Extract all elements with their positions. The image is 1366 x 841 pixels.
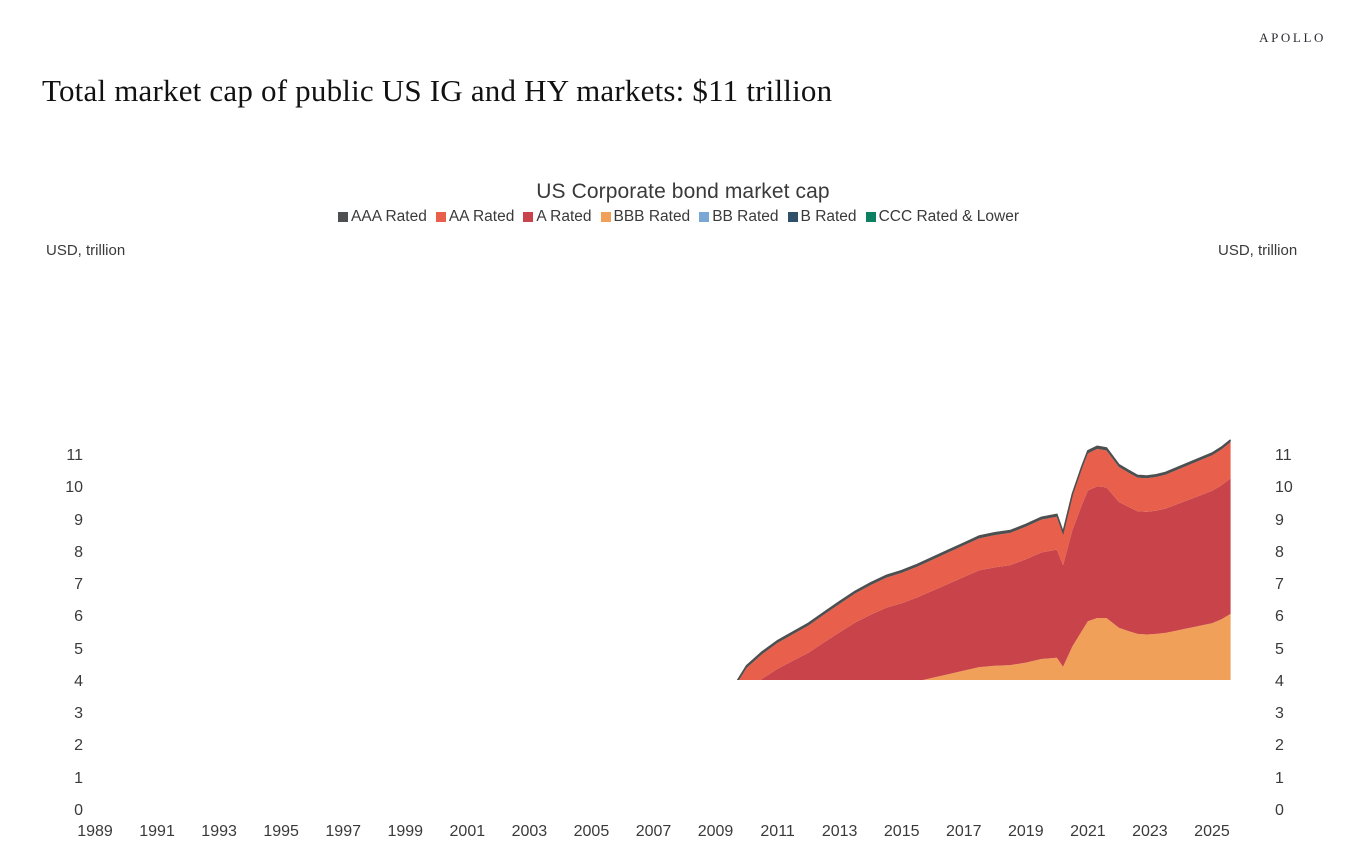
x-axis-tick-label: 2009 — [689, 823, 743, 841]
x-axis-tick-label: 1993 — [192, 823, 246, 841]
plot-area: USD, trillion USD, trillion 001122334455… — [0, 180, 1366, 680]
x-axis-tick-label: 2001 — [440, 823, 494, 841]
x-axis-tick-label: 2023 — [1123, 823, 1177, 841]
y-axis-tick-label-right: 6 — [1275, 608, 1301, 626]
x-axis-tick-label: 1995 — [254, 823, 308, 841]
y-axis-label-left: USD, trillion — [46, 242, 125, 259]
y-axis-tick-label-left: 10 — [57, 479, 83, 497]
y-axis-tick-label-left: 9 — [57, 512, 83, 530]
x-axis-tick-label: 2013 — [813, 823, 867, 841]
x-axis-tick-label: 2025 — [1185, 823, 1239, 841]
y-axis-tick-label-right: 2 — [1275, 737, 1301, 755]
stacked-area-chart — [0, 180, 1366, 680]
x-axis-tick-label: 1997 — [316, 823, 370, 841]
y-axis-tick-label-left: 0 — [57, 802, 83, 820]
y-axis-tick-label-left: 11 — [57, 447, 83, 465]
y-axis-tick-label-left: 5 — [57, 641, 83, 659]
y-axis-label-right: USD, trillion — [1218, 242, 1297, 259]
y-axis-tick-label-right: 11 — [1275, 447, 1301, 465]
y-axis-tick-label-left: 4 — [57, 673, 83, 691]
y-axis-tick-label-left: 8 — [57, 544, 83, 562]
y-axis-tick-label-right: 4 — [1275, 673, 1301, 691]
y-axis-tick-label-right: 10 — [1275, 479, 1301, 497]
x-axis-tick-label: 1999 — [378, 823, 432, 841]
y-axis-tick-label-right: 7 — [1275, 576, 1301, 594]
page-title: Total market cap of public US IG and HY … — [42, 73, 832, 109]
y-axis-tick-label-left: 7 — [57, 576, 83, 594]
x-axis-tick-label: 2019 — [999, 823, 1053, 841]
y-axis-tick-label-right: 3 — [1275, 705, 1301, 723]
x-axis-tick-label: 2005 — [564, 823, 618, 841]
x-axis-tick-label: 1989 — [68, 823, 122, 841]
chart-container: US Corporate bond market cap AAA RatedAA… — [0, 180, 1366, 680]
y-axis-tick-label-right: 8 — [1275, 544, 1301, 562]
area-band-a-rated — [95, 478, 1231, 680]
x-axis-tick-label: 2003 — [502, 823, 556, 841]
y-axis-tick-label-left: 2 — [57, 737, 83, 755]
y-axis-tick-label-right: 9 — [1275, 512, 1301, 530]
x-axis-tick-label: 2015 — [875, 823, 929, 841]
apollo-logo: APOLLO — [1259, 30, 1326, 46]
x-axis-tick-label: 2007 — [626, 823, 680, 841]
y-axis-tick-label-right: 1 — [1275, 770, 1301, 788]
x-axis-tick-label: 2017 — [937, 823, 991, 841]
y-axis-tick-label-left: 6 — [57, 608, 83, 626]
y-axis-tick-label-right: 5 — [1275, 641, 1301, 659]
x-axis-tick-label: 1991 — [130, 823, 184, 841]
y-axis-tick-label-left: 3 — [57, 705, 83, 723]
x-axis-tick-label: 2021 — [1061, 823, 1115, 841]
y-axis-tick-label-left: 1 — [57, 770, 83, 788]
y-axis-tick-label-right: 0 — [1275, 802, 1301, 820]
x-axis-tick-label: 2011 — [751, 823, 805, 841]
